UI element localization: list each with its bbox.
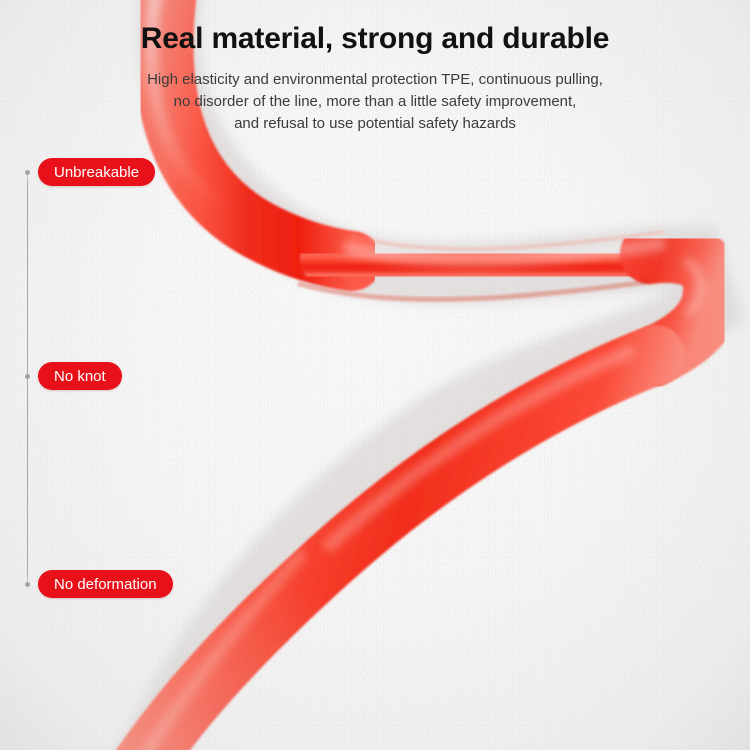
feature-badge-no-deformation: No deformation <box>38 570 173 598</box>
rail-dot-no-deformation <box>25 582 30 587</box>
feature-badge-label: Unbreakable <box>54 164 139 181</box>
rail-dot-no-knot <box>25 374 30 379</box>
product-feature-banner: Real material, strong and durable High e… <box>0 0 750 750</box>
feature-badge-no-knot: No knot <box>38 362 122 390</box>
rail-dot-unbreakable <box>25 170 30 175</box>
feature-badge-label: No deformation <box>54 576 157 593</box>
feature-rail <box>27 168 28 590</box>
feature-badge-label: No knot <box>54 368 106 385</box>
feature-badge-unbreakable: Unbreakable <box>38 158 155 186</box>
